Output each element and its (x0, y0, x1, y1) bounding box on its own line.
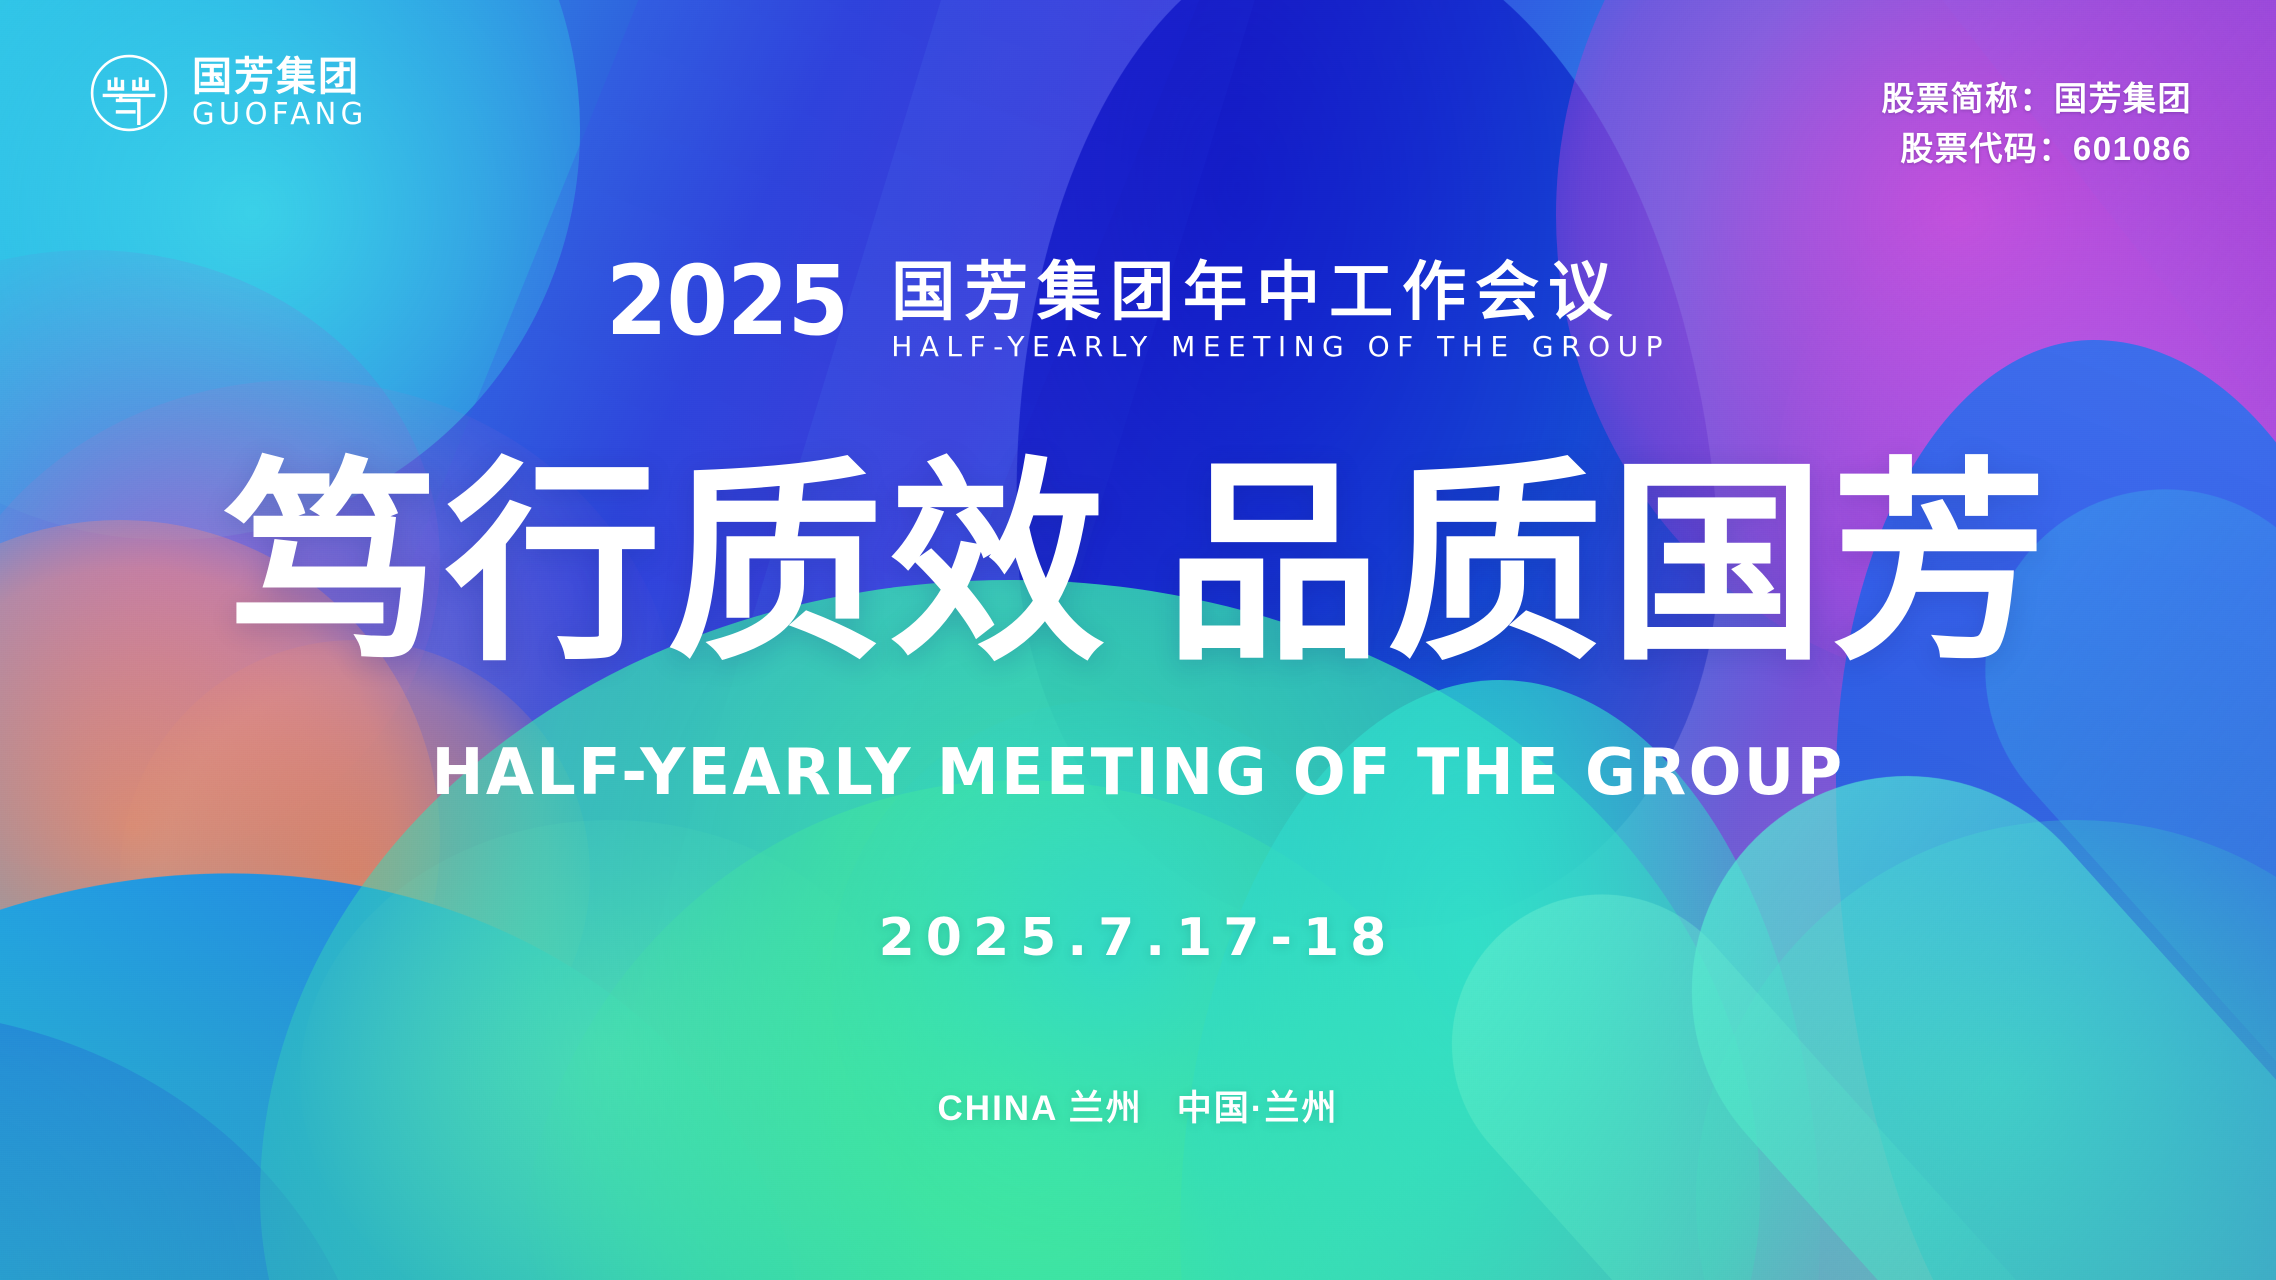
event-year: 2025 (606, 256, 848, 347)
stock-info-block: 股票简称：国芳集团 股票代码：601086 (1882, 74, 2193, 173)
event-location: CHINA 兰州中国·兰州 (0, 1080, 2276, 1131)
event-location-en: CHINA 兰州 (938, 1089, 1143, 1128)
stock-code-line: 股票代码：601086 (1882, 124, 2193, 174)
guofang-circle-emblem-icon (88, 52, 170, 134)
conference-banner: 国芳集团 GUOFANG 股票简称：国芳集团 股票代码：601086 2025 … (0, 0, 2276, 1280)
headline-slogan: 笃行质效品质国芳 (0, 452, 2276, 677)
brand-name-en: GUOFANG (192, 100, 368, 130)
headline-part-two: 品质国芳 (1165, 443, 2053, 685)
event-title-cn: 国芳集团年中工作会议 (891, 260, 1670, 325)
event-date: 2025.7.17-18 (0, 908, 2276, 968)
stock-name-line: 股票简称：国芳集团 (1882, 74, 2193, 124)
brand-name-cn: 国芳集团 (192, 56, 373, 98)
headline-subtitle-en: HALF-YEARLY MEETING OF THE GROUP (34, 736, 2242, 810)
brand-logo-lockup: 国芳集团 GUOFANG (88, 52, 373, 134)
banner-content: 国芳集团 GUOFANG 股票简称：国芳集团 股票代码：601086 2025 … (0, 0, 2276, 1280)
event-title-en: HALF-YEARLY MEETING OF THE GROUP (891, 325, 1670, 365)
headline-part-one: 笃行质效 (223, 443, 1111, 685)
brand-logo-text: 国芳集团 GUOFANG (192, 56, 373, 130)
event-eyebrow: 2025 国芳集团年中工作会议 HALF-YEARLY MEETING OF T… (0, 256, 2276, 366)
event-location-cn: 中国·兰州 (1177, 1089, 1339, 1128)
